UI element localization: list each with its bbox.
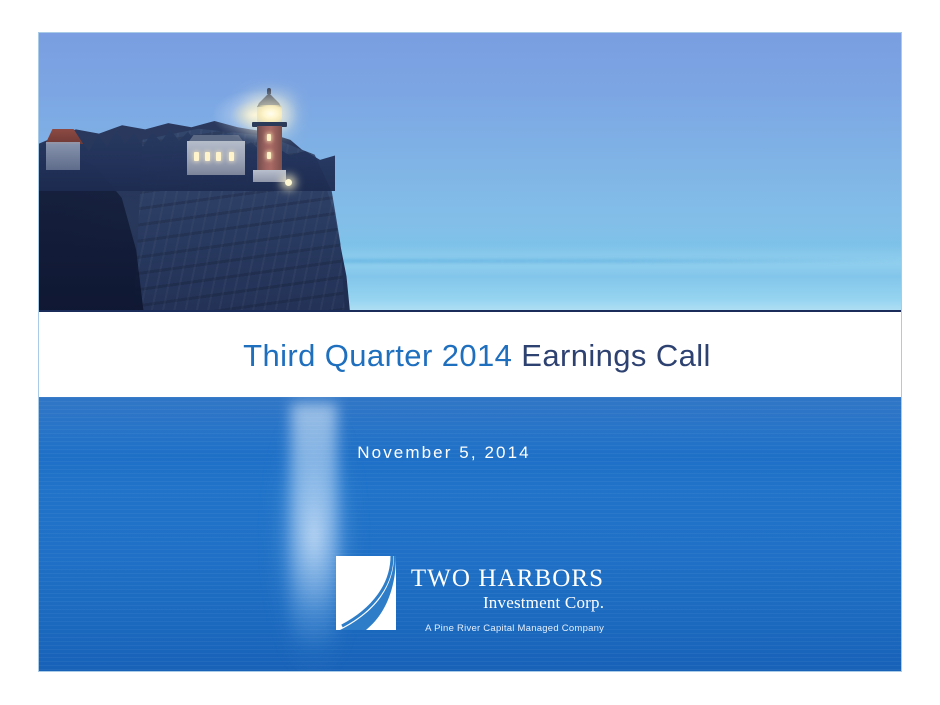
- ground-lamp: [285, 179, 292, 186]
- tower-window: [267, 152, 271, 159]
- company-tagline: A Pine River Capital Managed Company: [425, 623, 604, 634]
- lighthouse-photo: [39, 33, 901, 310]
- title-accent-text: Third Quarter 2014: [243, 338, 512, 373]
- title-main-text: Earnings Call: [521, 338, 711, 373]
- lighthouse-tower: [257, 126, 282, 174]
- slide-canvas: Third Quarter 2014 Earnings Call Novembe…: [0, 0, 940, 705]
- company-suffix: Investment Corp.: [483, 592, 604, 615]
- presentation-date: November 5, 2014: [357, 443, 530, 463]
- company-logo: TWO HARBORS Investment Corp. A Pine Rive…: [39, 554, 901, 634]
- lighthouse-beacon: [257, 105, 282, 123]
- title-band: Third Quarter 2014 Earnings Call: [39, 310, 901, 401]
- company-name: TWO HARBORS: [411, 566, 604, 592]
- logo-wordmark-group: TWO HARBORS Investment Corp. A Pine Rive…: [411, 554, 604, 634]
- annex-window: [194, 152, 199, 161]
- two-harbors-sail-mark-icon: [336, 556, 396, 630]
- tower-window: [267, 134, 271, 141]
- date-line: November 5, 2014: [39, 443, 901, 463]
- title-slide: Third Quarter 2014 Earnings Call Novembe…: [38, 32, 902, 672]
- lighthouse-base: [253, 170, 286, 182]
- keepers-house-body: [46, 142, 80, 170]
- keepers-house: [41, 129, 85, 171]
- page-title: Third Quarter 2014 Earnings Call: [243, 338, 711, 374]
- lighthouse: [237, 91, 303, 191]
